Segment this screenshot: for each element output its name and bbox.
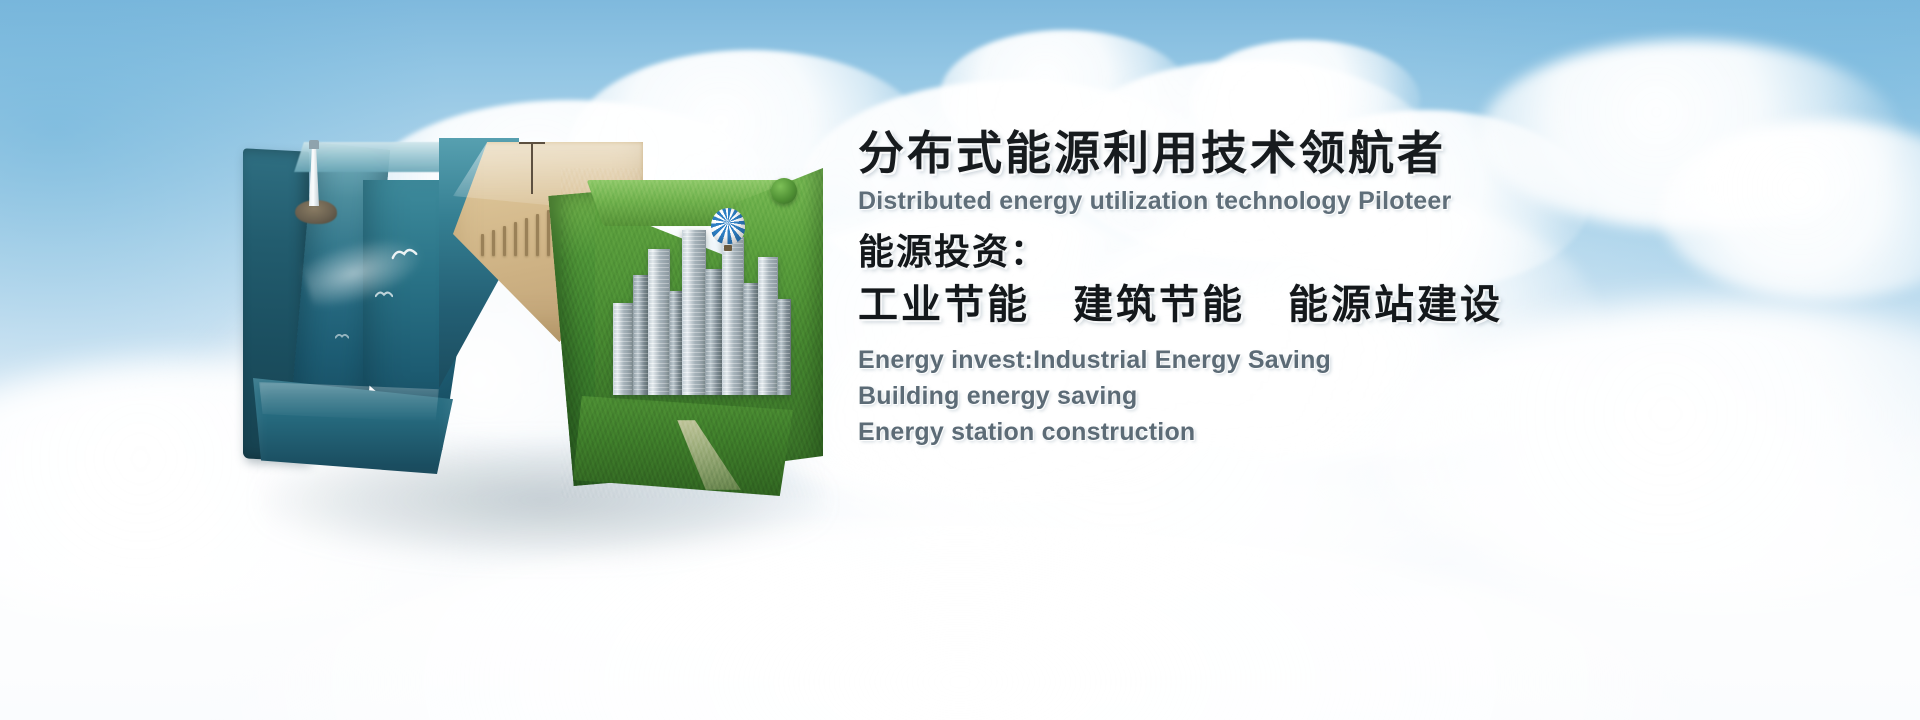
fence-icon xyxy=(481,210,561,256)
service-en-item: Energy station construction xyxy=(858,415,1858,449)
hot-air-balloon-icon xyxy=(711,208,745,254)
seagull-icon xyxy=(335,332,349,343)
utility-pole-icon xyxy=(531,142,533,194)
seagull-icon xyxy=(375,288,393,301)
hero-banner: 分布式能源利用技术领航者 Distributed energy utilizat… xyxy=(0,0,1920,720)
services-list-cn: 工业节能 建筑节能 能源站建设 xyxy=(858,280,1858,331)
grass-front-face xyxy=(573,396,793,496)
banner-text-block: 分布式能源利用技术领航者 Distributed energy utilizat… xyxy=(858,128,1858,451)
service-en-item: Building energy saving xyxy=(858,379,1858,413)
section-label-cn: 能源投资： xyxy=(858,230,1858,276)
lighthouse-lamp xyxy=(309,140,319,149)
banner-headline-cn: 分布式能源利用技术领航者 xyxy=(858,128,1858,180)
lighthouse-icon xyxy=(305,138,323,216)
tree-icon xyxy=(771,178,797,204)
lighthouse-tower xyxy=(309,148,319,206)
w-logo-sculpture xyxy=(243,120,843,520)
banner-subheadline-en: Distributed energy utilization technolog… xyxy=(858,186,1858,216)
service-en-item: Energy invest:Industrial Energy Saving xyxy=(858,343,1858,377)
services-list-en: Energy invest:Industrial Energy Saving B… xyxy=(858,343,1858,449)
seagull-icon xyxy=(389,240,418,266)
city-skyline-icon xyxy=(613,220,793,395)
